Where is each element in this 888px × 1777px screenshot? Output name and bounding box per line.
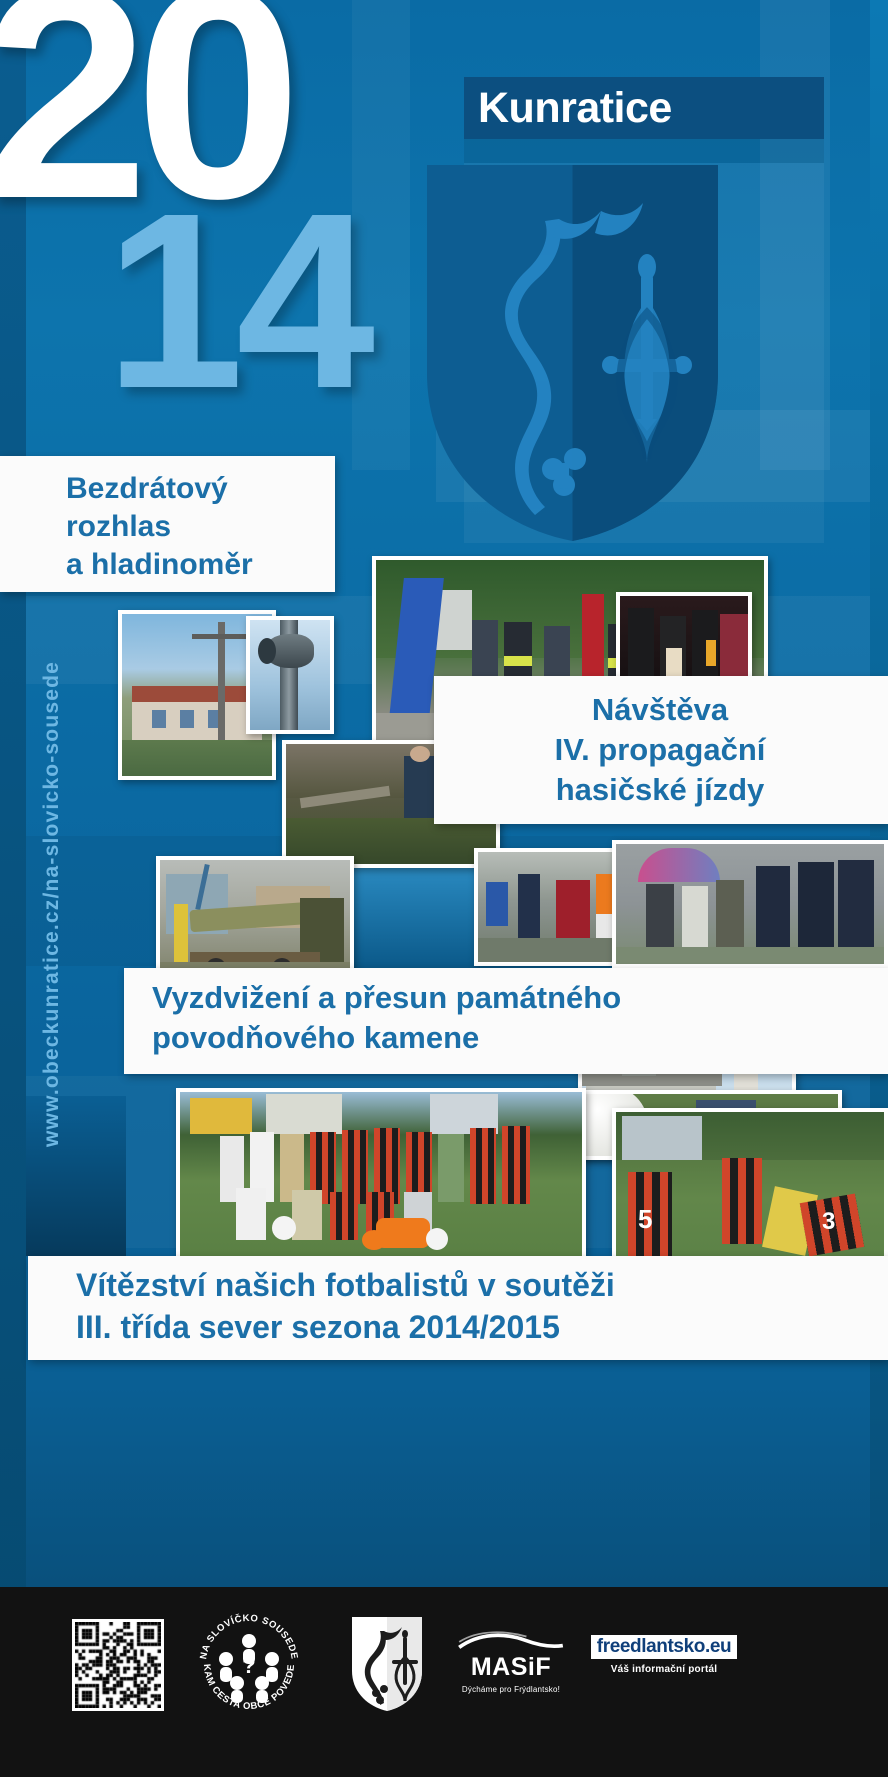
logo-question-mark: ? — [242, 1653, 255, 1678]
caption-wireless-radio: Bezdrátový rozhlas a hladinoměr — [0, 456, 335, 592]
caption-radio-line1: Bezdrátový — [66, 470, 335, 508]
photo-loudspeaker-closeup — [246, 616, 334, 734]
photo-officials-handshake — [612, 840, 888, 968]
masif-logo[interactable]: MASiF Dýcháme pro Frýdlantsko! — [452, 1631, 570, 1699]
caption-stone-line2: povodňového kamene — [152, 1018, 888, 1058]
caption-fire-visit: Návštěva IV. propagační hasičské jízdy — [434, 676, 888, 824]
village-name-badge: Kunratice — [464, 77, 824, 139]
caption-radio-line3: a hladinoměr — [66, 546, 335, 584]
masif-name: MASiF — [452, 1653, 570, 1682]
freedlantsko-name: freedlantsko.eu — [591, 1635, 737, 1659]
village-name-label: Kunratice — [478, 84, 672, 133]
caption-football-victory: Vítězství našich fotbalistů v soutěži II… — [28, 1256, 888, 1360]
footer-coat-of-arms-icon — [350, 1615, 424, 1713]
freedlantsko-logo[interactable]: freedlantsko.eu Váš informační portál — [588, 1635, 740, 1675]
caption-football-line2: III. třída sever sezona 2014/2015 — [76, 1306, 888, 1348]
qr-code-icon[interactable] — [72, 1619, 164, 1711]
poster-root: 20 14 Kunratice — [0, 0, 888, 1777]
caption-radio-line2: rozhlas — [66, 508, 335, 546]
caption-fire-line1: Návštěva — [462, 690, 888, 730]
website-url-vertical[interactable]: www.obeckunratice.cz/na-slovicko-sousede — [40, 587, 64, 1147]
freedlantsko-tagline: Váš informační portál — [588, 1664, 740, 1675]
caption-stone-line1: Vyzdvižení a přesun památného — [152, 978, 888, 1018]
bg-left-edge — [0, 0, 26, 1777]
coat-of-arms-icon — [425, 163, 720, 543]
bg-block-kunratice-shadow — [464, 139, 824, 163]
na-slovicko-sousede-logo[interactable]: NA SLOVÍČKO SOUSEDE KAM CESTA OBCE POVED… — [196, 1611, 302, 1717]
year-bottom: 14 — [105, 193, 367, 408]
caption-flood-stone: Vyzdvižení a přesun památného povodňovéh… — [124, 968, 888, 1074]
masif-tagline: Dýcháme pro Frýdlantsko! — [452, 1685, 570, 1694]
photo-stone-lifting-crane — [156, 856, 354, 986]
caption-fire-line2: IV. propagační — [462, 730, 888, 770]
footer-bar: NA SLOVÍČKO SOUSEDE KAM CESTA OBCE POVED… — [0, 1587, 888, 1777]
photo-football-team — [176, 1088, 586, 1260]
caption-fire-line3: hasičské jízdy — [462, 770, 888, 810]
caption-football-line1: Vítězství našich fotbalistů v soutěži — [76, 1264, 888, 1306]
